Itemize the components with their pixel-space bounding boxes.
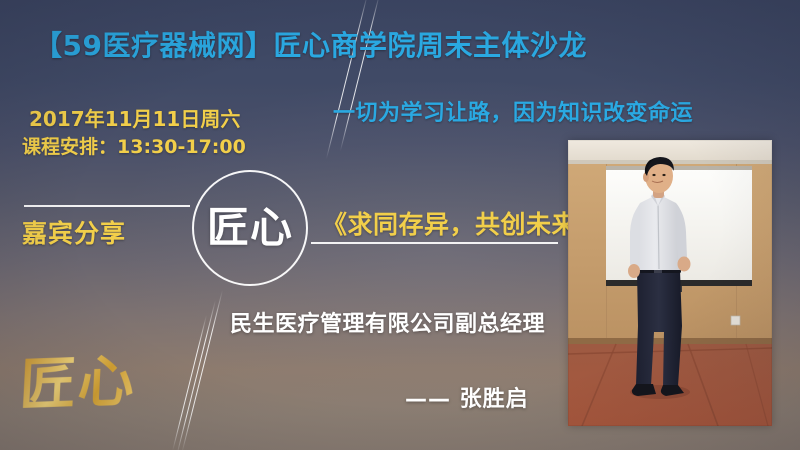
decorative-diagonal-line-3 <box>181 290 223 450</box>
brand-watermark-calligraphy: 匠心 <box>18 342 152 424</box>
brand-logo-circle: 匠心 <box>192 170 308 286</box>
speaker-name: —— 张胜启 <box>405 381 529 413</box>
slogan-divider <box>311 242 558 244</box>
brand-logo-text: 匠心 <box>207 207 293 249</box>
speaker-title: 民生医疗管理有限公司副总经理 <box>230 306 545 338</box>
guest-share-divider <box>24 205 190 207</box>
event-schedule: 课程安排：13:30-17:00 <box>22 132 246 159</box>
speaker-photo <box>568 140 772 426</box>
event-date: 2017年11月11日周六 <box>29 103 240 132</box>
decorative-diagonal-line-2 <box>340 0 380 151</box>
poster-title: 【59医疗器械网】匠心商学院周末主体沙龙 <box>34 24 587 64</box>
brand-slogan: 《求同存异，共创未来》 <box>322 205 603 241</box>
decorative-diagonal-line-5 <box>176 300 216 450</box>
poster-tagline: 一切为学习让路，因为知识改变命运 <box>333 95 693 127</box>
decorative-diagonal-line-4 <box>172 315 207 450</box>
guest-share-label: 嘉宾分享 <box>22 214 126 250</box>
seminar-poster: 【59医疗器械网】匠心商学院周末主体沙龙 一切为学习让路，因为知识改变命运 20… <box>0 0 800 450</box>
